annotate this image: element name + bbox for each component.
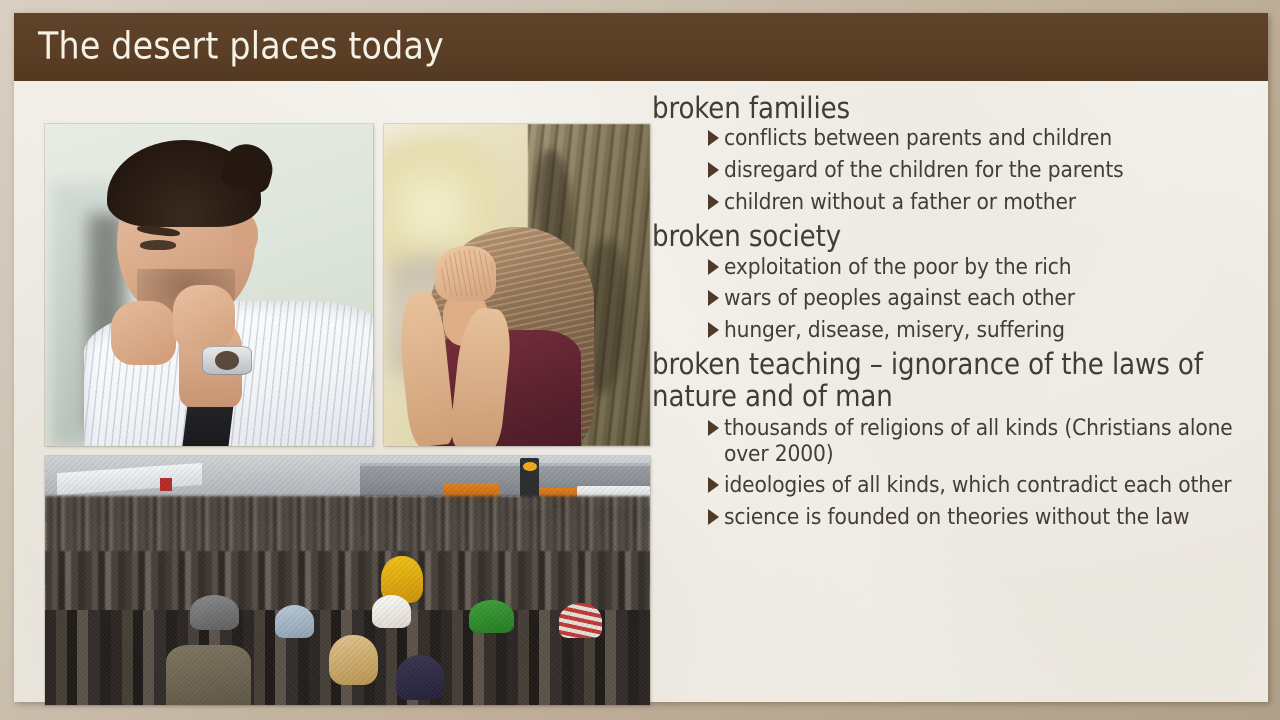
pensive-man-photo	[45, 124, 373, 446]
photo-grain-overlay	[45, 456, 650, 705]
slide-title-band: The desert places today	[14, 13, 1268, 81]
triangle-bullet-icon	[708, 130, 719, 146]
triangle-bullet-icon	[708, 477, 719, 493]
slide-title: The desert places today	[38, 25, 444, 68]
list-item: hunger, disease, misery, suffering	[652, 318, 1264, 344]
list-item-label: children without a father or mother	[724, 189, 1076, 215]
list-item-label: ideologies of all kinds, which contradic…	[724, 472, 1231, 498]
slide-canvas: The desert places today	[14, 13, 1268, 702]
section-broken-families: broken families conflicts between parent…	[652, 93, 1264, 215]
list-item: ideologies of all kinds, which contradic…	[652, 473, 1264, 499]
bullet-list: thousands of religions of all kinds (Chr…	[652, 416, 1264, 531]
list-item: disregard of the children for the parent…	[652, 158, 1264, 184]
winter-crowd-photo	[45, 456, 650, 705]
list-item: children without a father or mother	[652, 190, 1264, 216]
section-heading: broken teaching – ignorance of the laws …	[652, 349, 1264, 412]
wristwatch	[202, 346, 251, 375]
list-item-label: exploitation of the poor by the rich	[724, 254, 1071, 280]
triangle-bullet-icon	[708, 509, 719, 525]
list-item: wars of peoples against each other	[652, 286, 1264, 312]
bullet-list: conflicts between parents and children d…	[652, 126, 1264, 215]
list-item-label: wars of peoples against each other	[724, 285, 1075, 311]
winter-crowd-scene	[45, 456, 650, 705]
triangle-bullet-icon	[708, 420, 719, 436]
list-item: thousands of religions of all kinds (Chr…	[652, 416, 1264, 467]
left-fist	[111, 301, 177, 365]
right-fist	[173, 285, 235, 349]
slide-body-content: broken families conflicts between parent…	[652, 93, 1264, 698]
triangle-bullet-icon	[708, 162, 719, 178]
triangle-bullet-icon	[708, 259, 719, 275]
list-item-label: thousands of religions of all kinds (Chr…	[724, 415, 1233, 467]
list-item: conflicts between parents and children	[652, 126, 1264, 152]
presentation-backdrop: The desert places today	[0, 0, 1280, 720]
list-item-label: conflicts between parents and children	[724, 125, 1112, 151]
section-heading: broken society	[652, 221, 1264, 252]
list-item-label: science is founded on theories without t…	[724, 504, 1189, 530]
list-item: science is founded on theories without t…	[652, 505, 1264, 531]
hands-on-head	[435, 246, 496, 301]
list-item: exploitation of the poor by the rich	[652, 255, 1264, 281]
list-item-label: disregard of the children for the parent…	[724, 157, 1124, 183]
eye	[140, 240, 176, 250]
distressed-woman-scene	[384, 124, 650, 446]
distressed-woman-photo	[384, 124, 650, 446]
list-item-label: hunger, disease, misery, suffering	[724, 317, 1065, 343]
image-column	[31, 111, 649, 692]
section-heading: broken families	[652, 93, 1264, 124]
triangle-bullet-icon	[708, 194, 719, 210]
section-broken-society: broken society exploitation of the poor …	[652, 221, 1264, 343]
triangle-bullet-icon	[708, 322, 719, 338]
pensive-man-scene	[45, 124, 373, 446]
triangle-bullet-icon	[708, 290, 719, 306]
section-broken-teaching: broken teaching – ignorance of the laws …	[652, 349, 1264, 530]
bullet-list: exploitation of the poor by the rich war…	[652, 255, 1264, 344]
